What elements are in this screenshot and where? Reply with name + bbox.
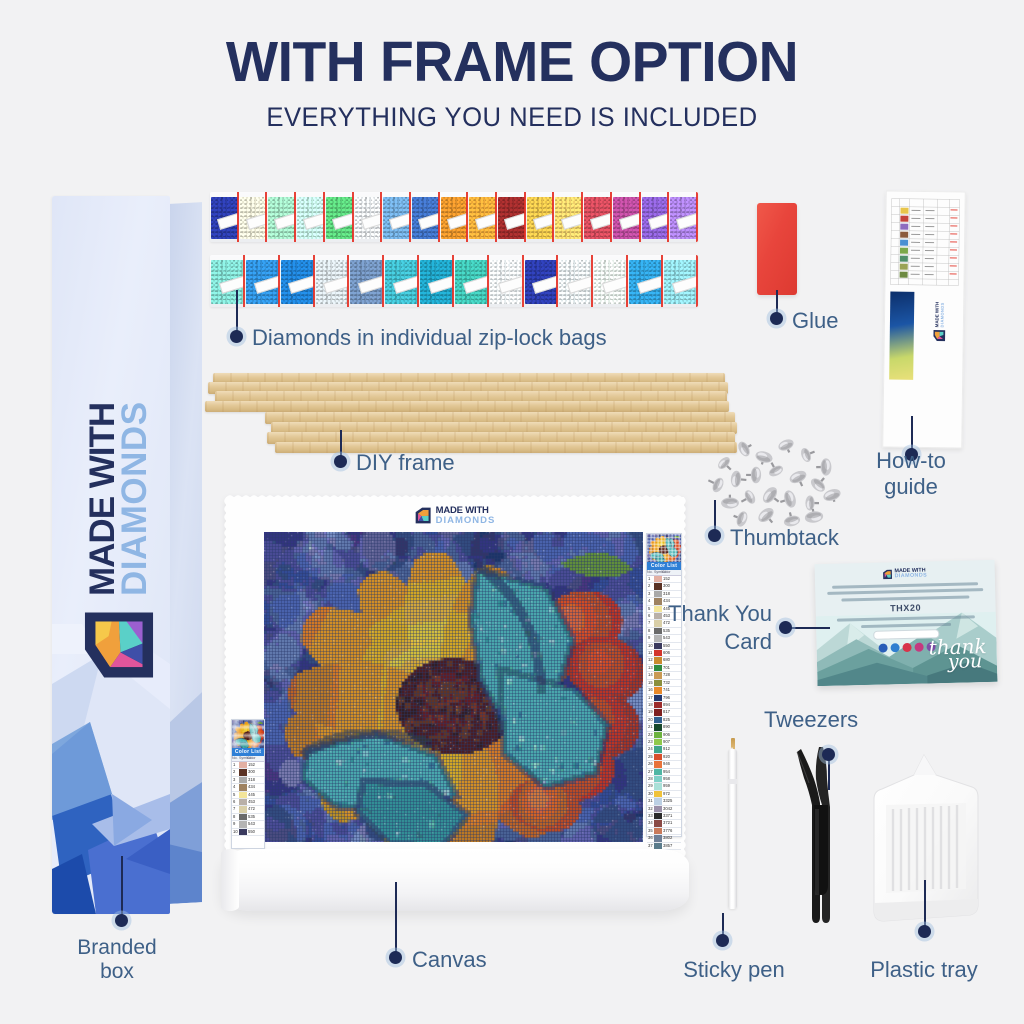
legend-row: 27954 bbox=[647, 769, 681, 776]
legend-row-swatch bbox=[654, 806, 662, 812]
ziplock-bag bbox=[349, 255, 384, 307]
legend-row: 19817 bbox=[647, 709, 681, 716]
tweezers-icon bbox=[795, 745, 847, 925]
thank-you-card-logo: MADE WITH DIAMONDS bbox=[882, 568, 927, 580]
ziplock-bag bbox=[593, 255, 628, 307]
ziplock-bag bbox=[583, 192, 612, 242]
ziplock-bag bbox=[526, 192, 555, 242]
legend-row-swatch bbox=[654, 687, 662, 693]
legend-row-no: 13 bbox=[647, 665, 654, 671]
branded-box-name-line2: DIAMONDS bbox=[119, 401, 151, 596]
legend-row-swatch bbox=[654, 732, 662, 738]
legend-row-no: 2 bbox=[232, 769, 239, 775]
legend-row-code: 946 bbox=[662, 761, 681, 767]
facebook-icon bbox=[878, 643, 887, 652]
ziplock-bag bbox=[382, 192, 411, 242]
legend-row-no: 25 bbox=[647, 754, 654, 760]
thank-you-script: thank you bbox=[929, 638, 988, 671]
legend-row-no: 27 bbox=[647, 769, 654, 775]
branded-box-front-panel: MADE WITH DIAMONDS bbox=[52, 196, 170, 914]
legend-row: 1152 bbox=[232, 762, 264, 769]
ziplock-bag bbox=[280, 255, 315, 307]
legend-row-swatch bbox=[654, 591, 662, 597]
legend-row-code: 890 bbox=[662, 724, 681, 730]
legend-row-no: 1 bbox=[232, 762, 239, 768]
legend-rows: 1152230033184434544564537472853595431055… bbox=[232, 762, 264, 836]
thanks-line2: you bbox=[943, 654, 987, 671]
canvas-scalloped-edge-left bbox=[223, 497, 230, 867]
legend-col-symbol: Symbol bbox=[654, 570, 662, 575]
diy-frame bbox=[205, 365, 735, 460]
ziplock-bag bbox=[411, 192, 440, 242]
legend-row: 15732 bbox=[647, 680, 681, 687]
legend-row-code: 300 bbox=[247, 769, 264, 775]
legend-row: 2300 bbox=[232, 769, 264, 776]
legend-row: 313325 bbox=[647, 798, 681, 805]
legend-row-no: 3 bbox=[232, 777, 239, 783]
legend-row-no: 30 bbox=[647, 791, 654, 797]
legend-row-code: 817 bbox=[662, 709, 681, 715]
ziplock-bag bbox=[663, 255, 698, 307]
legend-row-swatch bbox=[239, 777, 247, 783]
legend-row-code: 535 bbox=[247, 814, 264, 820]
legend-row-no: 1 bbox=[647, 576, 654, 582]
callout-dot-thumbtack bbox=[708, 529, 721, 542]
callout-diy-frame: DIY frame bbox=[356, 451, 455, 476]
legend-row-no: 10 bbox=[232, 829, 239, 835]
legend-col-color: Color bbox=[662, 570, 681, 575]
legend-row-no: 18 bbox=[647, 702, 654, 708]
legend-row-code: 3371 bbox=[662, 813, 681, 819]
legend-row-swatch bbox=[654, 835, 662, 841]
canvas-scalloped-edge-top bbox=[226, 494, 684, 501]
legend-row-code: 152 bbox=[247, 762, 264, 768]
legend-row-swatch bbox=[654, 739, 662, 745]
legend-row-no: 29 bbox=[647, 783, 654, 789]
ziplock-bag bbox=[384, 255, 419, 307]
legend-col-no: No. bbox=[647, 570, 654, 575]
legend-row-no: 28 bbox=[647, 776, 654, 782]
legend-row-code: 954 bbox=[662, 769, 681, 775]
legend-row-no: 19 bbox=[647, 709, 654, 715]
legend-row: 30972 bbox=[647, 791, 681, 798]
legend-row-code: 972 bbox=[662, 791, 681, 797]
legend-col-no: No. bbox=[232, 756, 239, 761]
legend-row-code: 796 bbox=[662, 695, 681, 701]
legend-row-swatch bbox=[239, 829, 247, 835]
message-line-1 bbox=[832, 582, 979, 589]
ziplock-bag bbox=[554, 192, 583, 242]
legend-row: 363802 bbox=[647, 835, 681, 842]
thumbtack-icon bbox=[746, 467, 761, 484]
guide-table bbox=[889, 198, 960, 287]
thumbtack-icon bbox=[738, 489, 757, 508]
leader-branded-box bbox=[121, 856, 123, 918]
legend-row-swatch bbox=[654, 769, 662, 775]
ziplock-bag bbox=[669, 192, 698, 242]
legend-row-swatch bbox=[654, 798, 662, 804]
canvas-rolled-edge bbox=[221, 849, 689, 911]
branded-box: Sparkle and Shine bbox=[52, 196, 204, 916]
legend-row-no: 32 bbox=[647, 806, 654, 812]
thank-you-card: MADE WITH DIAMONDS THX20 thank you bbox=[815, 560, 998, 686]
footer-line-1 bbox=[837, 615, 974, 621]
ziplock-bag bbox=[245, 255, 280, 307]
legend-row: 24912 bbox=[647, 746, 681, 753]
leader-diamond-bags bbox=[236, 290, 238, 335]
callout-tweezers: Tweezers bbox=[764, 708, 858, 733]
legend-row-code: 3042 bbox=[662, 806, 681, 812]
diamond-logo-icon bbox=[82, 608, 156, 682]
callout-dot-branded-box bbox=[115, 914, 128, 927]
legend-row-swatch bbox=[239, 792, 247, 798]
thumbtack-icon bbox=[706, 473, 726, 494]
legend-row-no: 31 bbox=[647, 798, 654, 804]
ziplock-bag bbox=[296, 192, 325, 242]
callout-how-to-guide: How-to guide bbox=[851, 448, 971, 501]
legend-row: 22906 bbox=[647, 732, 681, 739]
ziplock-bag bbox=[419, 255, 454, 307]
ziplock-bag bbox=[239, 192, 268, 242]
legend-row-code: 453 bbox=[247, 799, 264, 805]
legend-row-no: 7 bbox=[232, 806, 239, 812]
ziplock-bag bbox=[468, 192, 497, 242]
legend-row: 14728 bbox=[647, 672, 681, 679]
legend-row-swatch bbox=[654, 702, 662, 708]
legend-row-swatch bbox=[654, 813, 662, 819]
thumbtack-icon bbox=[777, 437, 797, 455]
callout-thumbtack: Thumbtack bbox=[730, 526, 839, 551]
legend-row-code: 920 bbox=[662, 754, 681, 760]
thumbtack-icon bbox=[754, 449, 774, 466]
legend-row-no: 20 bbox=[647, 717, 654, 723]
legend-row-code: 300 bbox=[662, 583, 681, 589]
tweezers-shape bbox=[795, 745, 847, 925]
legend-row-code: 3721 bbox=[662, 820, 681, 826]
legend-row-no: 4 bbox=[232, 784, 239, 790]
legend-row: 4434 bbox=[232, 784, 264, 791]
leader-how-to-guide bbox=[911, 416, 913, 452]
legend-row-swatch bbox=[654, 746, 662, 752]
page-title: WITH FRAME OPTION bbox=[15, 34, 1008, 91]
legend-row-code: 912 bbox=[662, 746, 681, 752]
legend-row-no: 24 bbox=[647, 746, 654, 752]
leader-thank-you-card bbox=[790, 627, 830, 629]
box-side-polygon-pattern bbox=[168, 602, 202, 904]
legend-row-swatch bbox=[239, 762, 247, 768]
legend-row-code: 3802 bbox=[662, 835, 681, 841]
legend-row-no: 16 bbox=[647, 687, 654, 693]
ziplock-bag-row-bottom bbox=[210, 255, 698, 307]
pen-grip bbox=[728, 779, 737, 784]
callout-branded-box: Branded box bbox=[64, 936, 170, 983]
legend-row-swatch bbox=[654, 672, 662, 678]
legend-row-no: 22 bbox=[647, 732, 654, 738]
legend-row-code: 318 bbox=[247, 777, 264, 783]
sticky-pen-icon bbox=[726, 735, 739, 920]
legend-row-swatch bbox=[654, 680, 662, 686]
leader-tweezers bbox=[828, 760, 830, 790]
svg-text:MADE WITH: MADE WITH bbox=[934, 302, 939, 328]
ziplock-bag-row-top bbox=[210, 192, 698, 242]
thumbtack-icon bbox=[805, 495, 819, 510]
legend-row-code: 959 bbox=[662, 783, 681, 789]
legend-row-no: 5 bbox=[232, 792, 239, 798]
legend-row-code: 958 bbox=[662, 776, 681, 782]
legend-row-swatch bbox=[239, 784, 247, 790]
thumbtack-icon bbox=[736, 438, 755, 458]
thumbtack-pile bbox=[706, 437, 856, 533]
branded-box-tagline: Sparkle and Shine bbox=[201, 258, 202, 819]
legend-row: 353776 bbox=[647, 828, 681, 835]
thumbtack-icon bbox=[816, 458, 831, 475]
ziplock-bag bbox=[628, 255, 663, 307]
legend-row-swatch bbox=[654, 783, 662, 789]
callout-diamond-bags: Diamonds in individual zip-lock bags bbox=[252, 326, 607, 351]
legend-row-no: 21 bbox=[647, 724, 654, 730]
legend-row: 7472 bbox=[232, 806, 264, 813]
ziplock-bag bbox=[315, 255, 350, 307]
pen-barrel bbox=[728, 749, 737, 909]
legend-row-code: 543 bbox=[247, 821, 264, 827]
callout-thank-you-card-line2: Card bbox=[640, 628, 772, 656]
legend-row-swatch bbox=[239, 821, 247, 827]
ziplock-bag bbox=[489, 255, 524, 307]
callout-how-to-guide-line1: How-to bbox=[851, 448, 971, 474]
diamond-logo-icon bbox=[415, 507, 432, 524]
callout-dot-sticky-pen bbox=[716, 934, 729, 947]
legend-row-swatch bbox=[654, 709, 662, 715]
legend-row-code: 680 bbox=[662, 657, 681, 663]
callout-dot-glue bbox=[770, 312, 783, 325]
message-line-2 bbox=[827, 588, 983, 595]
legend-row-code: 728 bbox=[662, 672, 681, 678]
thumbtack-icon bbox=[808, 473, 830, 495]
legend-row: 13701 bbox=[647, 665, 681, 672]
branded-box-side-panel: Sparkle and Shine bbox=[168, 202, 202, 904]
legend-row-code: 445 bbox=[247, 792, 264, 798]
legend-row-no: 12 bbox=[647, 657, 654, 663]
callout-branded-box-line2: box bbox=[64, 960, 170, 984]
legend-row-swatch bbox=[239, 769, 247, 775]
thumbtack-icon bbox=[778, 489, 798, 510]
artwork-thumbnail bbox=[647, 534, 681, 562]
ziplock-bag bbox=[641, 192, 670, 242]
thumbtack-icon bbox=[730, 470, 747, 488]
ziplock-bag bbox=[210, 192, 239, 242]
legend-row: 3318 bbox=[647, 591, 681, 598]
bag-zip-seal bbox=[696, 192, 698, 242]
legend-row: 10550 bbox=[232, 829, 264, 836]
legend-row-code: 3857 bbox=[662, 843, 681, 849]
ziplock-bag bbox=[612, 192, 641, 242]
canvas-logo-line2: DIAMONDS bbox=[436, 516, 496, 526]
legend-row-code: 732 bbox=[662, 680, 681, 686]
legend-row: 6453 bbox=[232, 799, 264, 806]
legend-row-swatch bbox=[239, 799, 247, 805]
legend-row-no: 15 bbox=[647, 680, 654, 686]
legend-row-code: 434 bbox=[247, 784, 264, 790]
how-to-guide: MADE WITH DIAMONDS bbox=[882, 190, 966, 448]
legend-row-swatch bbox=[654, 761, 662, 767]
legend-row-no: 23 bbox=[647, 739, 654, 745]
ziplock-bag bbox=[210, 255, 245, 307]
instagram-icon bbox=[914, 643, 923, 652]
legend-row-no: 6 bbox=[232, 799, 239, 805]
callout-dot-tweezers bbox=[822, 748, 835, 761]
ziplock-bag bbox=[497, 192, 526, 242]
legend-col-symbol: Symbol bbox=[239, 756, 247, 761]
ziplock-bag bbox=[440, 192, 469, 242]
message-line-3 bbox=[841, 595, 969, 601]
legend-row: 20825 bbox=[647, 717, 681, 724]
legend-row-no: 3 bbox=[647, 591, 654, 597]
canvas-artwork bbox=[264, 532, 643, 842]
legend-row: 8535 bbox=[232, 814, 264, 821]
legend-row-no: 26 bbox=[647, 761, 654, 767]
ziplock-bag bbox=[558, 255, 593, 307]
legend-row: 333371 bbox=[647, 813, 681, 820]
legend-row: 23907 bbox=[647, 739, 681, 746]
legend-row-no: 17 bbox=[647, 695, 654, 701]
ziplock-bag bbox=[325, 192, 354, 242]
thumbtacks-svg bbox=[706, 437, 856, 533]
callout-dot-diamond-bags bbox=[230, 330, 243, 343]
callout-dot-plastic-tray bbox=[918, 925, 931, 938]
ziplock-bag bbox=[267, 192, 296, 242]
legend-row-swatch bbox=[654, 776, 662, 782]
pinterest-icon bbox=[902, 643, 911, 652]
legend-row: 9543 bbox=[232, 821, 264, 828]
bag-zip-seal bbox=[696, 255, 698, 307]
thank-you-card-logo-line2: DIAMONDS bbox=[895, 574, 928, 580]
thumbtack-icon bbox=[799, 445, 817, 464]
svg-text:DIAMONDS: DIAMONDS bbox=[939, 302, 944, 327]
thumbtack-icon bbox=[760, 484, 784, 508]
legend-row: 29959 bbox=[647, 783, 681, 790]
canvas-brand-logo: MADE WITH DIAMONDS bbox=[415, 506, 496, 525]
twitter-icon bbox=[890, 643, 899, 652]
legend-row-code: 318 bbox=[662, 591, 681, 597]
legend-row-swatch bbox=[654, 583, 662, 589]
leader-thumbtack bbox=[714, 500, 716, 532]
legend-row-swatch bbox=[654, 754, 662, 760]
legend-row: 323042 bbox=[647, 806, 681, 813]
ziplock-bag bbox=[454, 255, 489, 307]
callout-thank-you-card: Thank You Card bbox=[640, 600, 772, 655]
branded-box-branding: MADE WITH DIAMONDS bbox=[59, 242, 170, 682]
legend-row-swatch bbox=[239, 814, 247, 820]
diamond-logo-icon bbox=[882, 570, 892, 580]
leader-canvas bbox=[395, 882, 397, 956]
callout-canvas: Canvas bbox=[412, 948, 487, 973]
thumbtack-icon bbox=[788, 468, 810, 489]
legend-row-swatch bbox=[654, 724, 662, 730]
callout-thank-you-card-line1: Thank You bbox=[640, 600, 772, 628]
callout-how-to-guide-line2: guide bbox=[851, 474, 971, 500]
callout-glue: Glue bbox=[792, 309, 838, 334]
callout-branded-box-line1: Branded bbox=[64, 936, 170, 960]
legend-col-color: Color bbox=[247, 756, 264, 761]
legend-row: 25920 bbox=[647, 754, 681, 761]
legend-row-code: 906 bbox=[662, 732, 681, 738]
legend-row-code: 741 bbox=[662, 687, 681, 693]
callout-dot-canvas bbox=[389, 951, 402, 964]
legend-row: 2300 bbox=[647, 583, 681, 590]
legend-row-no: 34 bbox=[647, 820, 654, 826]
legend-row: 343721 bbox=[647, 820, 681, 827]
legend-row-code: 3325 bbox=[662, 798, 681, 804]
color-list-legend-left: Color List No. Symbol Color 115223003318… bbox=[231, 719, 265, 849]
legend-title: Color List bbox=[647, 562, 681, 570]
callout-sticky-pen: Sticky pen bbox=[674, 958, 794, 983]
legend-row-code: 550 bbox=[247, 829, 264, 835]
legend-row-swatch bbox=[654, 576, 662, 582]
legend-row: 16741 bbox=[647, 687, 681, 694]
legend-row-code: 825 bbox=[662, 717, 681, 723]
thumbtack-icon bbox=[822, 487, 843, 505]
legend-row-no: 2 bbox=[647, 583, 654, 589]
diamond-logo-icon: MADE WITH DIAMONDS bbox=[933, 300, 947, 342]
legend-row-no: 8 bbox=[232, 814, 239, 820]
legend-row-no: 14 bbox=[647, 672, 654, 678]
leader-plastic-tray bbox=[924, 880, 926, 928]
legend-row-swatch bbox=[654, 665, 662, 671]
guide-landscape-image bbox=[889, 292, 914, 380]
legend-row: 3318 bbox=[232, 777, 264, 784]
legend-row-swatch bbox=[654, 820, 662, 826]
glue-stick-icon bbox=[757, 203, 797, 295]
legend-row-swatch bbox=[654, 791, 662, 797]
legend-row-code: 907 bbox=[662, 739, 681, 745]
legend-row-no: 9 bbox=[232, 821, 239, 827]
legend-row-no: 35 bbox=[647, 828, 654, 834]
callout-plastic-tray: Plastic tray bbox=[861, 958, 987, 983]
legend-row: 1152 bbox=[647, 576, 681, 583]
color-list-legend-right: Color List No. Symbol Color 115223003318… bbox=[646, 533, 682, 837]
legend-row-swatch bbox=[654, 695, 662, 701]
legend-title: Color List bbox=[232, 748, 264, 756]
thumbtack-icon bbox=[804, 508, 824, 524]
legend-row-swatch bbox=[654, 657, 662, 663]
legend-row: 18894 bbox=[647, 702, 681, 709]
legend-row-swatch bbox=[239, 806, 247, 812]
legend-row: 28958 bbox=[647, 776, 681, 783]
legend-row-swatch bbox=[654, 828, 662, 834]
callout-dot-diy-frame bbox=[334, 455, 347, 468]
canvas: MADE WITH DIAMONDS Color List No. Symbol… bbox=[226, 497, 684, 917]
discount-code: THX20 bbox=[828, 601, 984, 615]
legend-row-swatch bbox=[654, 717, 662, 723]
legend-row: 26946 bbox=[647, 761, 681, 768]
artwork-thumbnail bbox=[232, 720, 264, 748]
legend-row: 5445 bbox=[232, 792, 264, 799]
legend-row-code: 472 bbox=[247, 806, 264, 812]
canvas-sheet: MADE WITH DIAMONDS Color List No. Symbol… bbox=[226, 497, 684, 867]
guide-brand-logo: MADE WITH DIAMONDS bbox=[933, 300, 952, 342]
legend-row: 12680 bbox=[647, 657, 681, 664]
legend-row: 21890 bbox=[647, 724, 681, 731]
thumbtack-icon bbox=[721, 495, 739, 509]
legend-row-code: 701 bbox=[662, 665, 681, 671]
legend-row-no: 36 bbox=[647, 835, 654, 841]
ziplock-bag bbox=[524, 255, 559, 307]
legend-row-code: 152 bbox=[662, 576, 681, 582]
legend-row: 17796 bbox=[647, 695, 681, 702]
legend-row-no: 33 bbox=[647, 813, 654, 819]
ziplock-bag bbox=[354, 192, 383, 242]
page-subtitle: EVERYTHING YOU NEED IS INCLUDED bbox=[26, 104, 999, 131]
